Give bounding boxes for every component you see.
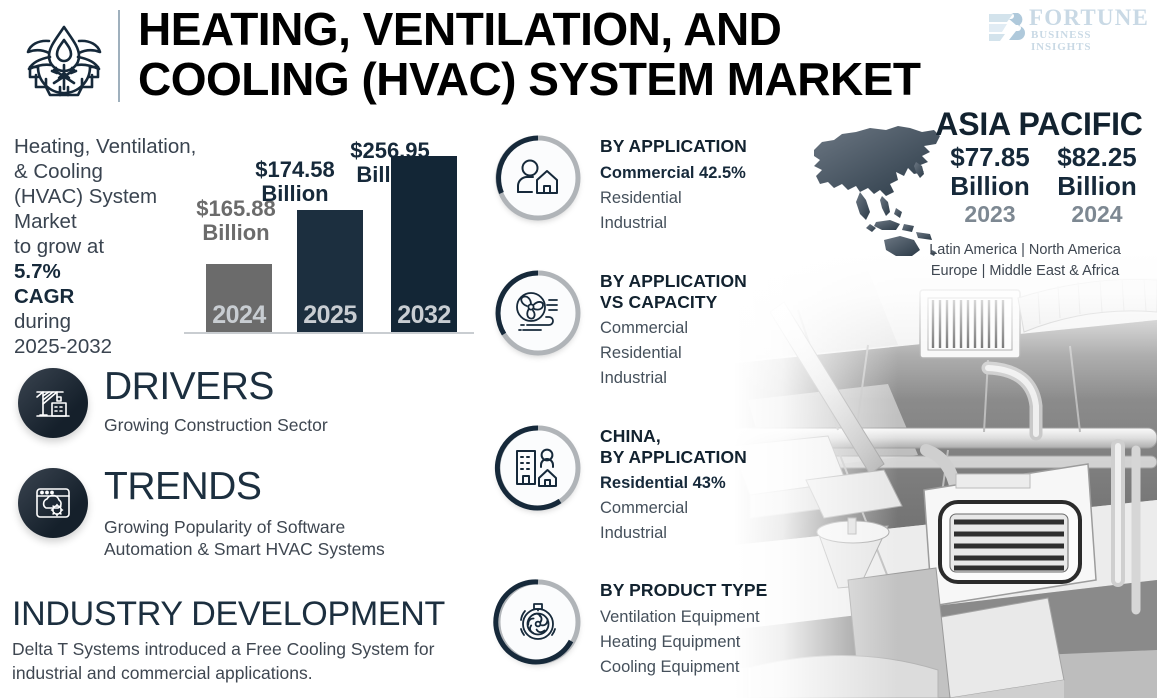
ap-year-2023: 2023 xyxy=(935,201,1045,228)
blower-turbine-icon xyxy=(492,576,584,668)
person-house-icon xyxy=(492,132,584,224)
category-heading-line-1: BY APPLICATION xyxy=(600,136,800,157)
region-line-2: Europe | Middle East & Africa xyxy=(900,261,1150,282)
category-item-2[interactable]: Industrial xyxy=(600,521,800,546)
category-heading-line-1: BY APPLICATION xyxy=(600,271,800,292)
bar-year-2024: 2024 xyxy=(206,301,272,330)
ap-unit-2024: Billion xyxy=(1042,172,1152,201)
ap-year-2024: 2024 xyxy=(1042,201,1152,228)
asia-pacific-heading: ASIA PACIFIC xyxy=(928,106,1150,143)
trends-text-line-2: Automation & Smart HVAC Systems xyxy=(104,538,385,560)
brand-subtitle: BUSINESS INSIGHTS xyxy=(1031,29,1147,53)
hvac-flame-snowflake-gear-icon xyxy=(16,9,112,105)
ap-value-2023: $77.85 xyxy=(935,143,1045,172)
region-list: Latin America | North America Europe | M… xyxy=(900,240,1150,282)
category-item-1[interactable]: Commercial xyxy=(600,496,800,521)
bar-year-2025: 2025 xyxy=(297,301,363,330)
region-line-1: Latin America | North America xyxy=(900,240,1150,261)
bar-year-2032: 2032 xyxy=(391,301,457,330)
drivers-text: Growing Construction Sector xyxy=(104,414,328,436)
infographic-canvas: HEATING, VENTILATION, AND COOLING (HVAC)… xyxy=(0,0,1157,698)
industry-development-heading: INDUSTRY DEVELOPMENT xyxy=(12,595,445,634)
category-text: BY PRODUCT TYPE Ventilation Equipment He… xyxy=(600,580,800,680)
drivers-block: DRIVERS Growing Construction Sector xyxy=(18,368,438,448)
drivers-heading: DRIVERS xyxy=(104,366,274,408)
ap-value-2024: $82.25 xyxy=(1042,143,1152,172)
category-item-0[interactable]: Commercial 42.5% xyxy=(600,161,800,186)
fortune-fb-monogram-icon xyxy=(987,10,1027,44)
trends-heading: TRENDS xyxy=(104,466,261,508)
category-heading-line-2: VS CAPACITY xyxy=(600,292,800,313)
industry-development-text: Delta T Systems introduced a Free Coolin… xyxy=(12,637,472,685)
industry-development-line-1: Delta T Systems introduced a Free Coolin… xyxy=(12,637,472,661)
header-divider xyxy=(118,10,120,102)
chart-baseline-axis xyxy=(184,332,474,334)
category-heading-line-1: BY PRODUCT TYPE xyxy=(600,580,800,601)
software-cloud-gear-icon xyxy=(18,468,88,538)
bar-2024: 2024 xyxy=(206,264,272,332)
fortune-business-insights-logo: FORTUNE BUSINESS INSIGHTS xyxy=(987,8,1147,48)
category-item-0[interactable]: Ventilation Equipment xyxy=(600,605,800,630)
category-item-1[interactable]: Residential xyxy=(600,186,800,211)
category-text: BY APPLICATION Commercial 42.5% Resident… xyxy=(600,136,800,236)
industry-development-line-2: industrial and commercial applications. xyxy=(12,661,472,685)
bar-2025: 2025 xyxy=(297,210,363,332)
trends-text-line-1: Growing Popularity of Software xyxy=(104,516,345,538)
category-item-2[interactable]: Industrial xyxy=(600,211,800,236)
category-item-0[interactable]: Commercial xyxy=(600,316,800,341)
category-item-2[interactable]: Industrial xyxy=(600,366,800,391)
asia-pacific-column-2023: $77.85 Billion 2023 xyxy=(935,143,1045,228)
category-item-2[interactable]: Cooling Equipment xyxy=(600,655,800,680)
category-item-0[interactable]: Residential 43% xyxy=(600,471,800,496)
asia-pacific-map-icon xyxy=(812,122,942,257)
category-text: CHINA, BY APPLICATION Residential 43% Co… xyxy=(600,426,800,546)
category-heading-line-2: BY APPLICATION xyxy=(600,447,800,468)
construction-crane-icon xyxy=(18,368,88,438)
brand-name: FORTUNE xyxy=(1029,5,1149,31)
trends-block: TRENDS Growing Popularity of Software Au… xyxy=(18,468,438,548)
category-heading-line-1: CHINA, xyxy=(600,426,800,447)
page-title: HEATING, VENTILATION, AND COOLING (HVAC)… xyxy=(138,4,988,104)
category-text: BY APPLICATION VS CAPACITY Commercial Re… xyxy=(600,271,800,391)
fan-airflow-icon xyxy=(492,267,584,359)
bar-2032: 2032 xyxy=(391,156,457,332)
ap-unit-2023: Billion xyxy=(935,172,1045,201)
building-person-house-icon xyxy=(492,422,584,514)
asia-pacific-column-2024: $82.25 Billion 2024 xyxy=(1042,143,1152,228)
category-item-1[interactable]: Residential xyxy=(600,341,800,366)
market-size-bar-chart: $165.88 Billion 2024 $174.58 Billion 202… xyxy=(178,140,474,340)
category-item-1[interactable]: Heating Equipment xyxy=(600,630,800,655)
